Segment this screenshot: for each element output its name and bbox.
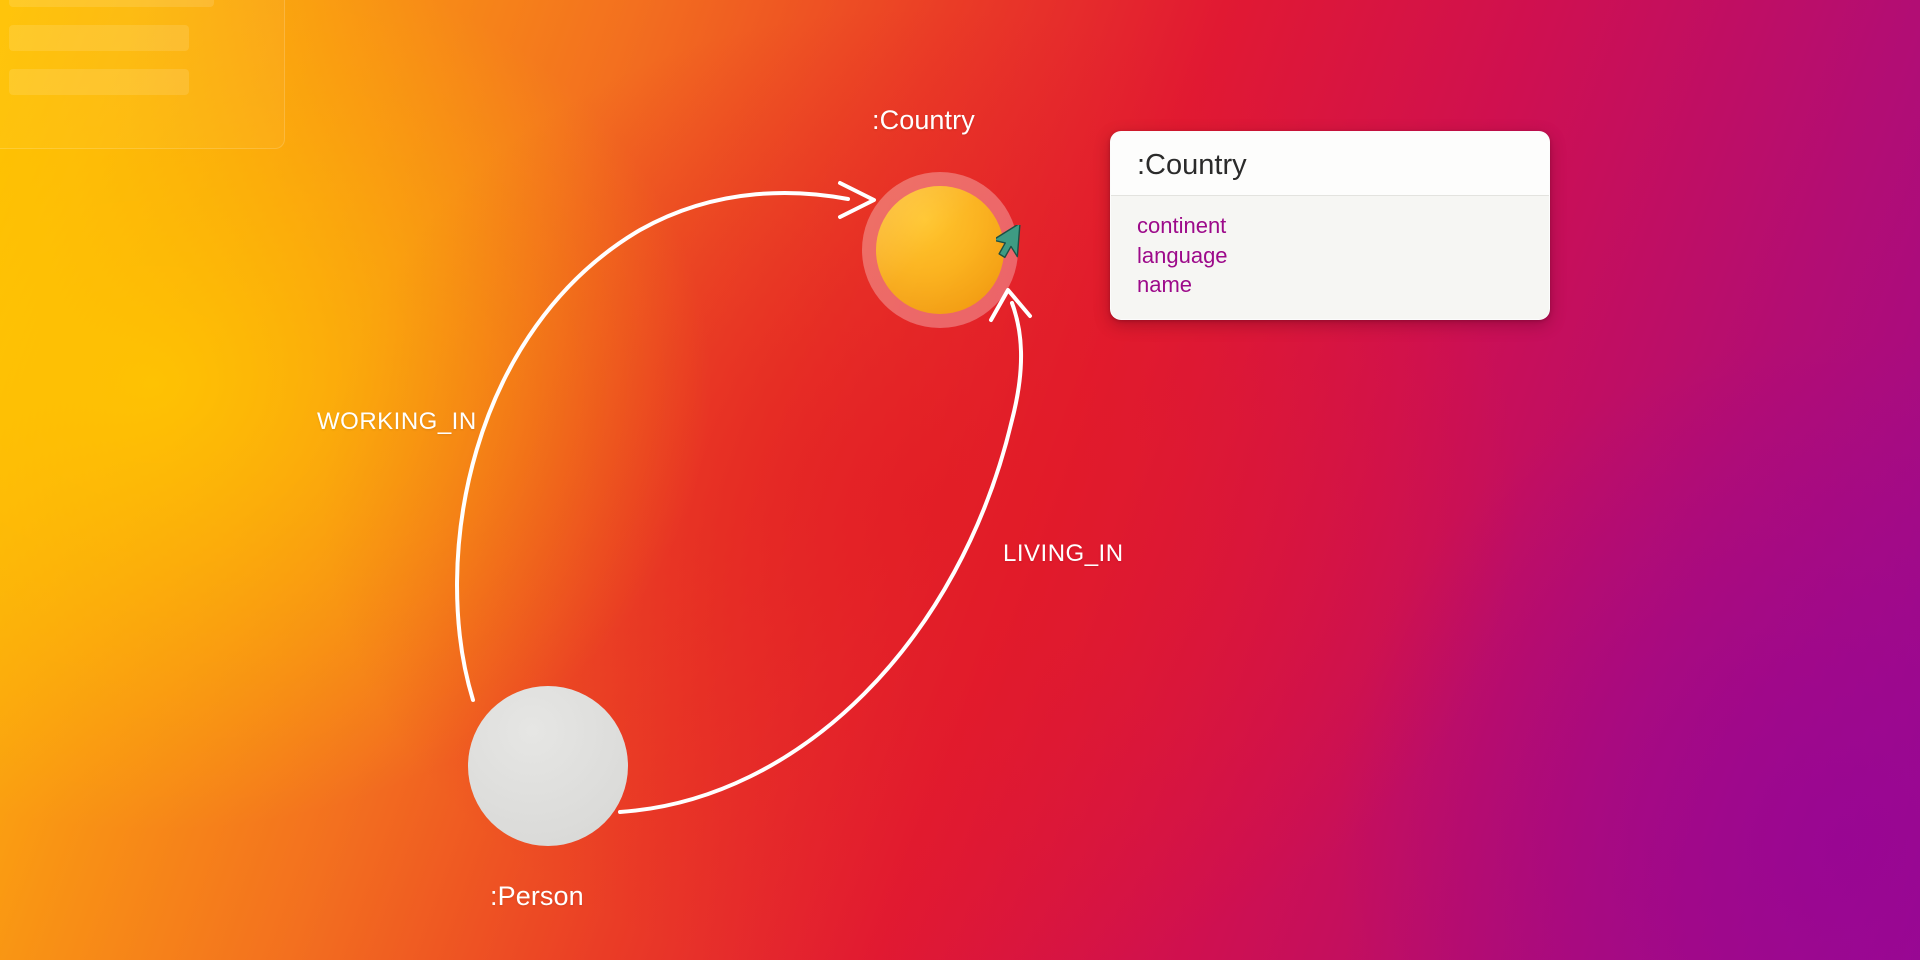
relationship-label-living-in: LIVING_IN — [1003, 540, 1124, 568]
node-person[interactable] — [468, 686, 628, 846]
node-label-person: :Person — [490, 881, 584, 912]
graph-canvas[interactable]: :Country :Person WORKING_IN LIVING_IN :C… — [0, 0, 1920, 960]
property-item[interactable]: name — [1137, 270, 1523, 299]
property-item[interactable]: continent — [1137, 211, 1523, 240]
graph-svg[interactable] — [0, 0, 1920, 960]
node-label-country: :Country — [872, 105, 975, 136]
property-item[interactable]: language — [1137, 241, 1523, 270]
node-country[interactable] — [862, 172, 1018, 328]
inspector-header: :Country — [1111, 132, 1549, 196]
relationship-living-in[interactable] — [620, 290, 1030, 812]
node-inspector-card[interactable]: :Country continent language name — [1110, 131, 1550, 320]
relationship-working-in[interactable] — [457, 183, 874, 700]
relationship-label-working-in: WORKING_IN — [317, 408, 477, 436]
inspector-title: :Country — [1137, 150, 1523, 180]
inspector-properties-list: continent language name — [1111, 196, 1549, 319]
